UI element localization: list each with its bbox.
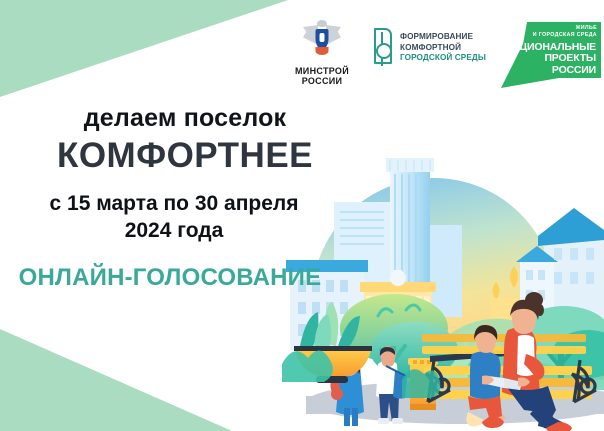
fkgs-logo-text: ФОРМИРОВАНИЕ КОМФОРТНОЙ ГОРОДСКОЙ СРЕДЫ — [400, 32, 486, 63]
voting-period-line-1: с 15 марта по 30 апреля — [0, 190, 348, 217]
double-headed-eagle-icon — [301, 20, 343, 64]
np-main-line3: РОССИИ — [505, 65, 596, 76]
logo-row: МИНСТРОЙ РОССИИ ФОРМИРОВАНИЕ КОМФОРТНОЙ … — [0, 8, 604, 92]
minstroy-logo-line2: РОССИИ — [276, 76, 368, 86]
headline-line-1: делаем поселок — [0, 104, 370, 133]
decorative-green-wedge-bottom-left — [0, 319, 240, 431]
minstroy-logo: МИНСТРОЙ РОССИИ — [276, 20, 368, 86]
voting-period-line-2: 2024 года — [0, 217, 348, 244]
voting-period: с 15 марта по 30 апреля 2024 года — [0, 190, 348, 244]
poster-root: МИНСТРОЙ РОССИИ ФОРМИРОВАНИЕ КОМФОРТНОЙ … — [0, 0, 604, 431]
np-top-line1: ЖИЛЬЕ — [533, 25, 597, 32]
fkgs-logo-line3: ГОРОДСКОЙ СРЕДЫ — [400, 53, 486, 63]
headline-line-2: КОМФОРТНЕЕ — [0, 136, 370, 176]
national-projects-top-text: ЖИЛЬЕ И ГОРОДСКАЯ СРЕДА — [533, 25, 597, 39]
fkgs-logo-line1: ФОРМИРОВАНИЕ — [400, 32, 486, 42]
minstroy-logo-line1: МИНСТРОЙ — [276, 66, 368, 76]
national-projects-logo: ЖИЛЬЕ И ГОРОДСКАЯ СРЕДА НАЦИОНАЛЬНЫЕ ПРО… — [495, 18, 601, 100]
np-top-line2: И ГОРОДСКАЯ СРЕДА — [533, 32, 597, 39]
fkgs-logo: ФОРМИРОВАНИЕ КОМФОРТНОЙ ГОРОДСКОЙ СРЕДЫ — [372, 28, 488, 68]
fkgs-logo-line2: КОМФОРТНОЙ — [400, 43, 486, 53]
online-voting-label: ОНЛАЙН-ГОЛОСОВАНИЕ — [10, 264, 330, 292]
door-keyhole-icon — [372, 28, 394, 68]
national-projects-main-text: НАЦИОНАЛЬНЫЕ ПРОЕКТЫ РОССИИ — [505, 42, 596, 76]
